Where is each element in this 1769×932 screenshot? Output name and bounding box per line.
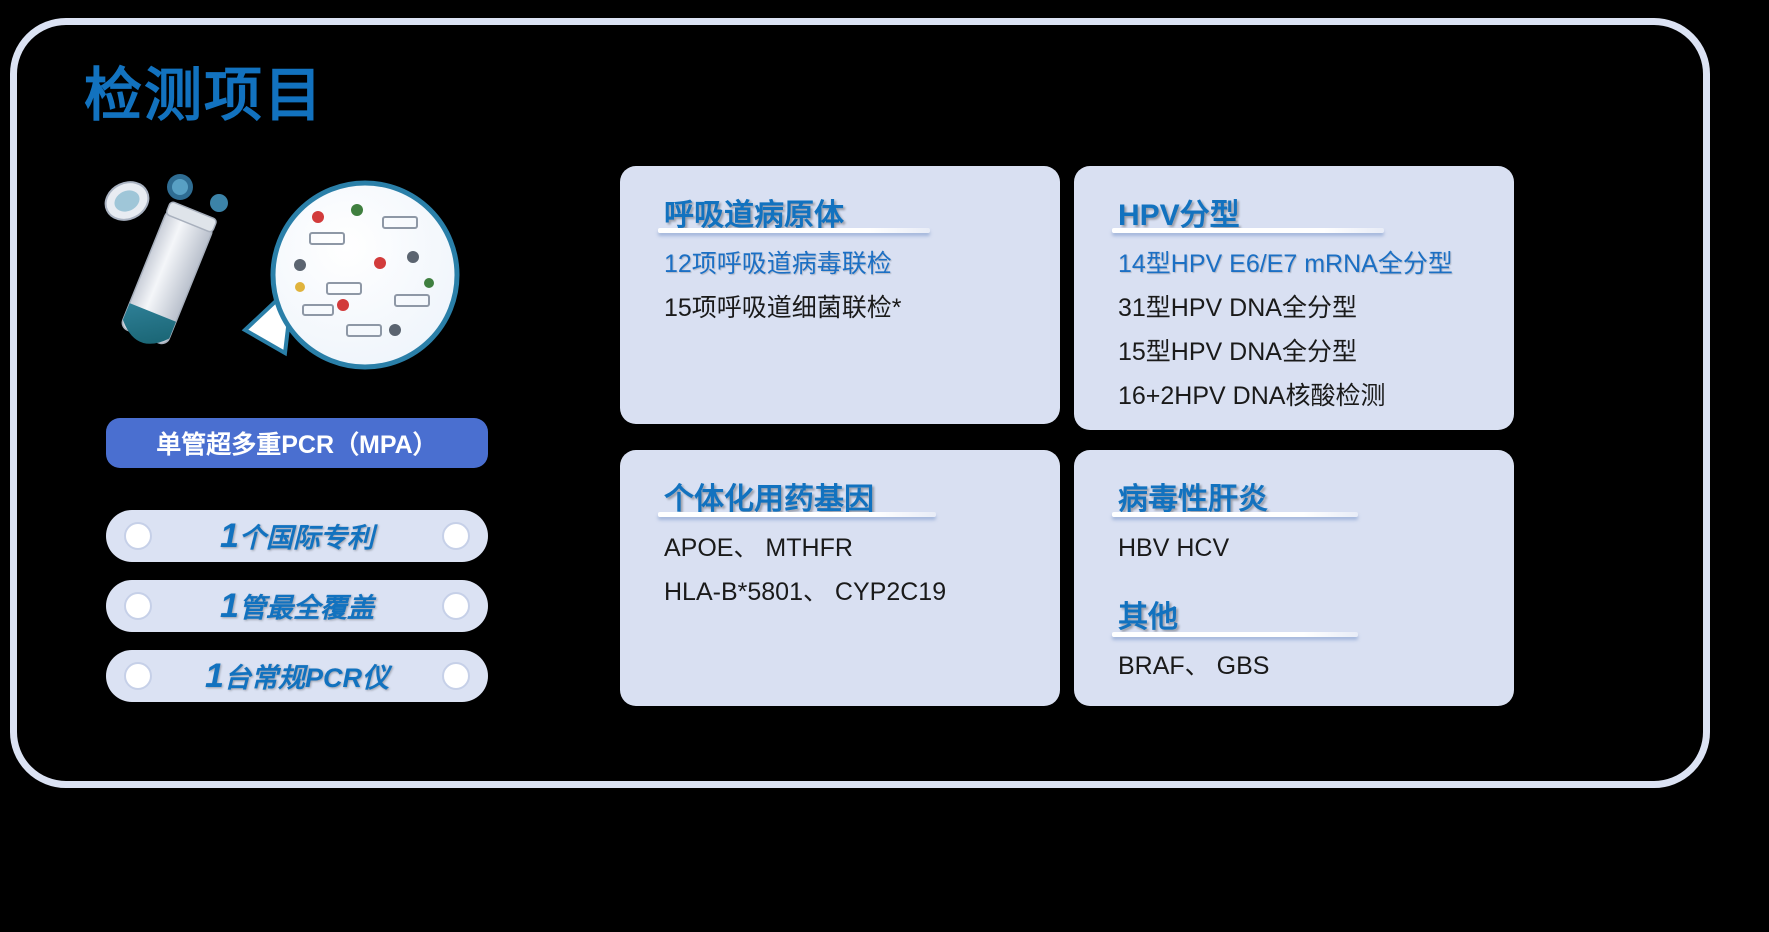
bullet-dot-left-icon [124,592,152,620]
card-item: 14型HPV E6/E7 mRNA全分型 [1118,242,1514,286]
pcr-tube-illustration [95,165,515,415]
card-item: HLA-B*5801、 CYP2C19 [664,570,1060,614]
tube-cap-icon [99,175,154,226]
card-item: HBV HCV [1118,526,1514,570]
feature-item-instrument: 1台常规PCR仪 [106,650,488,702]
header-underline [658,512,936,517]
card-item: 15项呼吸道细菌联检* [664,286,1060,330]
bullet-dot-left-icon [124,522,152,550]
feature-text: 个国际专利 [239,523,374,553]
bullet-dot-right-icon [442,522,470,550]
feature-item-patent: 1个国际专利 [106,510,488,562]
card-item: 31型HPV DNA全分型 [1118,286,1514,330]
feature-text: 管最全覆盖 [239,593,374,623]
card-header: 个体化用药基因 [664,474,874,526]
card-item: APOE、 MTHFR [664,526,1060,570]
subheader-underline [1112,632,1358,637]
feature-label: 1台常规PCR仪 [205,656,389,696]
card-viral-hepatitis: 病毒性肝炎 HBV HCV 其他 BRAF、 GBS [1074,450,1514,706]
card-item: 12项呼吸道病毒联检 [664,242,1060,286]
card-respiratory-pathogens: 呼吸道病原体 12项呼吸道病毒联检 15项呼吸道细菌联检* [620,166,1060,424]
card-item: BRAF、 GBS [1118,644,1514,688]
slide-canvas: 检测项目 [0,0,1769,932]
feature-number: 1 [205,657,224,695]
card-header: HPV分型 [1118,190,1240,242]
bullet-dot-right-icon [442,662,470,690]
mpa-pill-label: 单管超多重PCR（MPA） [106,418,488,468]
card-item: 15型HPV DNA全分型 [1118,330,1514,374]
magnified-sample-bubble [245,183,457,367]
feature-number: 1 [220,587,239,625]
card-pharmacogenomics: 个体化用药基因 APOE、 MTHFR HLA-B*5801、 CYP2C19 [620,450,1060,706]
feature-label: 1管最全覆盖 [220,586,374,626]
card-header: 病毒性肝炎 [1118,474,1268,526]
card-item: 16+2HPV DNA核酸检测 [1118,374,1514,418]
bullet-dot-right-icon [442,592,470,620]
header-underline [1112,228,1384,233]
feature-item-coverage: 1管最全覆盖 [106,580,488,632]
card-hpv-genotyping: HPV分型 14型HPV E6/E7 mRNA全分型 31型HPV DNA全分型… [1074,166,1514,430]
header-underline [1112,512,1358,517]
feature-label: 1个国际专利 [220,516,374,556]
feature-text: 台常规PCR仪 [224,663,389,693]
bullet-dot-left-icon [124,662,152,690]
header-underline [658,228,930,233]
page-title: 检测项目 [84,48,324,132]
feature-number: 1 [220,517,239,555]
card-header: 呼吸道病原体 [664,190,844,242]
tube-body-icon [118,201,218,351]
